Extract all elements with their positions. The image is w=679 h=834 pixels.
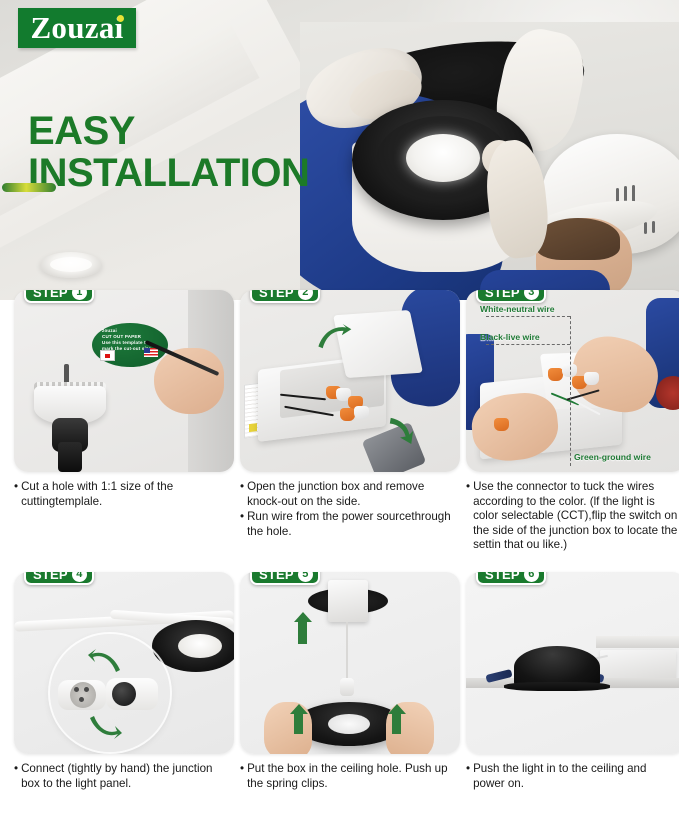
drill-body xyxy=(58,442,82,472)
step-6-image: STEP 6 xyxy=(466,572,679,754)
step-card-4: STEP 4 • Connect (tightly by hand) the j… xyxy=(14,572,234,792)
light-panel-lens xyxy=(328,714,370,734)
step-badge-number: 4 xyxy=(72,572,87,582)
caption-bullet: • Put the box in the ceiling hole. Push … xyxy=(240,762,455,791)
step-badge-1: STEP 1 xyxy=(24,290,94,303)
bullet-glyph: • xyxy=(240,480,244,509)
caption-text: Use the connector to tuck the wires acco… xyxy=(473,480,679,553)
caption-bullet: • Use the connector to tuck the wires ac… xyxy=(466,480,679,553)
bullet-glyph: • xyxy=(14,762,18,791)
light-panel-flange xyxy=(504,682,610,691)
junction-box xyxy=(328,580,368,622)
wire-nut-connector xyxy=(548,368,563,381)
green-arrow-rotate-icon xyxy=(88,714,122,740)
wire-label-white-neutral: White-neutral wire xyxy=(480,304,555,314)
step-5-image: STEP 5 xyxy=(240,572,460,754)
bullet-glyph: • xyxy=(466,762,470,791)
bullet-glyph: • xyxy=(466,480,470,553)
caption-text: Cut a hole with 1:1 size of the cuttingt… xyxy=(21,480,229,509)
step-card-6: STEP 6 • Push the light in to the ceilin… xyxy=(466,572,679,792)
ceiling-joist xyxy=(596,636,679,648)
step-3-image: White-neutral wire Black-live wire Green… xyxy=(466,290,679,472)
step-4-image: STEP 4 xyxy=(14,572,234,754)
step-3-caption: • Use the connector to tuck the wires ac… xyxy=(466,480,679,553)
step-badge-label: STEP xyxy=(259,290,294,300)
light-fixture-lens xyxy=(406,134,480,182)
callout-line xyxy=(486,316,570,317)
hero-banner: Zouzai EASY INSTALLATION xyxy=(0,0,679,300)
step-card-2: STEP 2 • Open the junction box and remov… xyxy=(240,290,460,554)
callout-line xyxy=(486,344,570,345)
installation-guide-page: Zouzai EASY INSTALLATION zouzai CUT OUT … xyxy=(0,0,679,834)
step-badge-label: STEP xyxy=(33,572,68,582)
bullet-glyph: • xyxy=(14,480,18,509)
connector-pins xyxy=(70,682,96,708)
green-arrow-down-icon xyxy=(386,416,416,444)
step-badge-3: STEP 3 xyxy=(476,290,546,303)
step-badge-label: STEP xyxy=(485,572,520,582)
green-arrow-up-icon xyxy=(294,612,312,644)
wire-nut-connector xyxy=(584,372,599,385)
caption-text: Put the box in the ceiling hole. Push up… xyxy=(247,762,455,791)
step-2-image: STEP 2 xyxy=(240,290,460,472)
hand xyxy=(154,348,224,414)
bullet-glyph: • xyxy=(240,510,244,539)
step-4-caption: • Connect (tightly by hand) the junction… xyxy=(14,762,229,791)
caption-text: Push the light in to the ceiling and pow… xyxy=(473,762,679,791)
step-badge-number: 2 xyxy=(298,290,313,300)
step-badge-label: STEP xyxy=(259,572,294,582)
step-6-caption: • Push the light in to the ceiling and p… xyxy=(466,762,679,791)
step-badge-label: STEP xyxy=(485,290,520,300)
step-badge-2: STEP 2 xyxy=(250,290,320,303)
green-arrow-up-icon xyxy=(316,324,352,350)
caption-bullet: • Open the junction box and remove knock… xyxy=(240,480,455,509)
headline-underline-accent xyxy=(2,183,56,192)
brand-logo: Zouzai xyxy=(18,8,136,48)
connector xyxy=(340,678,354,696)
hard-hat-vent-icon xyxy=(652,221,655,233)
green-arrow-up-icon xyxy=(290,704,308,734)
steps-row-bottom: STEP 4 • Connect (tightly by hand) the j… xyxy=(0,572,679,792)
wire-nut-connector xyxy=(494,418,509,431)
green-arrow-rotate-icon xyxy=(88,648,122,674)
wire-nut-connector xyxy=(354,406,369,419)
caption-bullet: • Run wire from the power sourcethrough … xyxy=(240,510,455,539)
step-card-5: STEP 5 • Put the box in the ceiling hole… xyxy=(240,572,460,792)
callout-line xyxy=(570,316,571,466)
template-flag-icon xyxy=(100,350,115,361)
caption-text: Run wire from the power sourcethrough th… xyxy=(247,510,455,539)
step-card-1: zouzai CUT OUT PAPER Use this template t… xyxy=(14,290,234,554)
caption-bullet: • Push the light in to the ceiling and p… xyxy=(466,762,679,791)
step-badge-label: STEP xyxy=(33,290,68,300)
caption-text: Open the junction box and remove knock-o… xyxy=(247,480,455,509)
steps-row-top: zouzai CUT OUT PAPER Use this template t… xyxy=(0,290,679,554)
steps-grid: zouzai CUT OUT PAPER Use this template t… xyxy=(0,290,679,792)
recessed-light-preview-lens xyxy=(50,257,92,272)
green-arrow-up-icon xyxy=(388,704,406,734)
step-badge-5: STEP 5 xyxy=(250,572,320,585)
step-badge-number: 1 xyxy=(72,290,87,300)
step-badge-number: 6 xyxy=(524,572,539,582)
headline-line-1: EASY xyxy=(28,112,309,150)
step-badge-4: STEP 4 xyxy=(24,572,94,585)
installer-hair xyxy=(536,218,620,260)
brand-logo-dot-icon xyxy=(117,15,124,22)
step-1-caption: • Cut a hole with 1:1 size of the cuttin… xyxy=(14,480,229,509)
brand-logo-text: Zouzai xyxy=(18,8,136,48)
step-badge-number: 5 xyxy=(298,572,313,582)
step-badge-number: 3 xyxy=(524,290,539,300)
step-card-3: White-neutral wire Black-live wire Green… xyxy=(466,290,679,554)
caption-bullet: • Connect (tightly by hand) the junction… xyxy=(14,762,229,791)
step-badge-6: STEP 6 xyxy=(476,572,546,585)
step-5-caption: • Put the box in the ceiling hole. Push … xyxy=(240,762,455,791)
connector-socket xyxy=(112,682,136,706)
bullet-glyph: • xyxy=(240,762,244,791)
headline-line-2: INSTALLATION xyxy=(28,154,309,192)
caption-text: Connect (tightly by hand) the junction b… xyxy=(21,762,229,791)
hard-hat-vent-icon xyxy=(644,222,647,234)
wire-label-green-ground: Green-ground wire xyxy=(574,452,651,462)
wire-label-black-live: Black-live wire xyxy=(480,332,540,342)
light-panel-lens xyxy=(178,634,222,658)
step-1-image: zouzai CUT OUT PAPER Use this template t… xyxy=(14,290,234,472)
installer-photo xyxy=(300,22,679,300)
step-2-caption: • Open the junction box and remove knock… xyxy=(240,480,455,539)
template-flag-icon xyxy=(144,348,158,357)
wire-nut-connector xyxy=(340,408,355,421)
page-title: EASY INSTALLATION xyxy=(28,112,309,192)
caption-bullet: • Cut a hole with 1:1 size of the cuttin… xyxy=(14,480,229,509)
